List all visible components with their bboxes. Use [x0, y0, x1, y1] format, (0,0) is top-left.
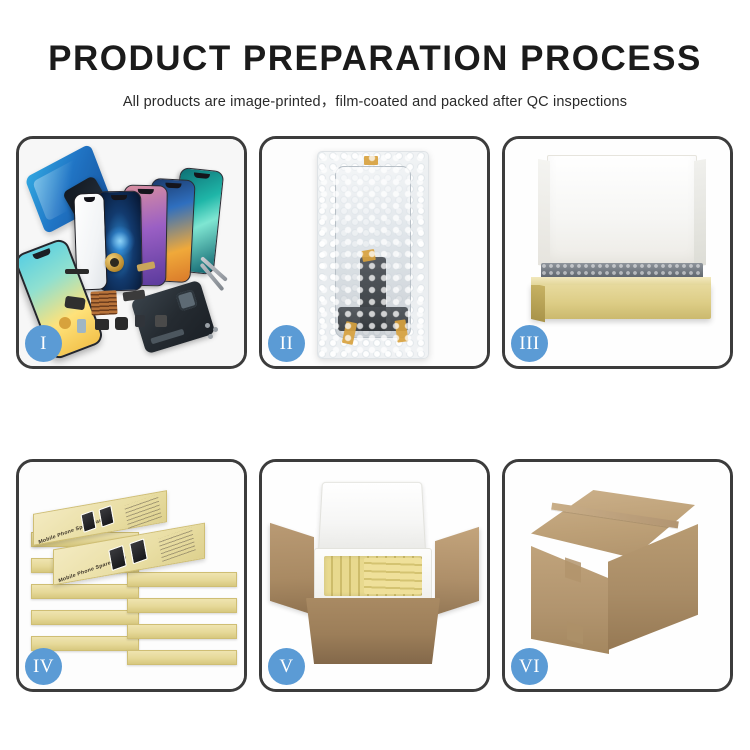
small-part-icon — [95, 319, 109, 330]
notch-icon — [111, 195, 127, 200]
speaker-part-icon — [105, 253, 124, 272]
box-artwork-phone-icon — [129, 538, 148, 564]
small-part-icon — [155, 315, 167, 327]
stacked-box — [127, 624, 237, 639]
screws-icon — [205, 323, 210, 328]
carton-flap-right-icon — [435, 527, 479, 615]
process-step-5: V — [259, 459, 490, 692]
bubble-wrap-bag-icon — [317, 151, 429, 359]
stacked-box — [127, 598, 237, 613]
yellow-box-base-icon — [531, 283, 711, 319]
notch-icon — [138, 189, 154, 194]
stacked-box — [127, 572, 237, 587]
flex-cable-icon — [65, 269, 89, 274]
small-part-icon — [135, 315, 145, 327]
flex-cable-icon — [64, 296, 85, 311]
process-step-2: II — [259, 136, 490, 369]
step-badge-5: V — [268, 648, 305, 685]
header: PRODUCT PREPARATION PROCESS All products… — [0, 0, 750, 111]
step-badge-1: I — [25, 325, 62, 362]
screen-flex-cable-icon — [360, 257, 386, 331]
inner-boxes-icon — [364, 558, 422, 594]
notch-icon — [83, 197, 94, 202]
process-step-4: Mobile Phone Spare Parts Mobile Phone Sp… — [16, 459, 247, 692]
step-badge-4: IV — [25, 648, 62, 685]
step-badge-6: VI — [511, 648, 548, 685]
process-step-grid: I II — [16, 136, 734, 692]
carton-body-icon — [306, 598, 440, 664]
small-part-icon — [77, 319, 86, 333]
foam-lid-icon — [318, 482, 426, 553]
process-step-3: III — [502, 136, 733, 369]
step-badge-2: II — [268, 325, 305, 362]
gold-part-icon — [59, 317, 71, 329]
notch-icon — [194, 172, 210, 179]
page-title: PRODUCT PREPARATION PROCESS — [0, 40, 750, 79]
wallpaper-glow — [104, 226, 135, 257]
product-preparation-infographic: PRODUCT PREPARATION PROCESS All products… — [0, 0, 750, 750]
box-artwork-phone-icon — [80, 510, 96, 533]
stacked-box — [127, 650, 237, 665]
box-artwork-phone-icon — [108, 545, 127, 571]
white-box-lid-icon — [547, 155, 697, 269]
stacked-box — [31, 584, 139, 599]
box-spec-lines — [124, 494, 162, 529]
tape-icon — [364, 156, 378, 165]
camera-module-icon — [115, 317, 128, 330]
chip-grid-icon — [90, 290, 117, 315]
step-badge-3: III — [511, 325, 548, 362]
notch-icon — [165, 183, 181, 189]
box-stack: Mobile Phone Spare Parts Mobile Phone Sp… — [31, 480, 237, 676]
notch-icon — [32, 248, 51, 260]
box-spec-lines — [158, 527, 196, 562]
tape-icon — [361, 249, 376, 262]
box-artwork-phone-icon — [98, 505, 114, 528]
process-step-1: I — [16, 136, 247, 369]
page-subtitle: All products are image-printed，film-coat… — [0, 90, 750, 111]
process-step-6: VI — [502, 459, 733, 692]
stacked-box — [31, 610, 139, 625]
